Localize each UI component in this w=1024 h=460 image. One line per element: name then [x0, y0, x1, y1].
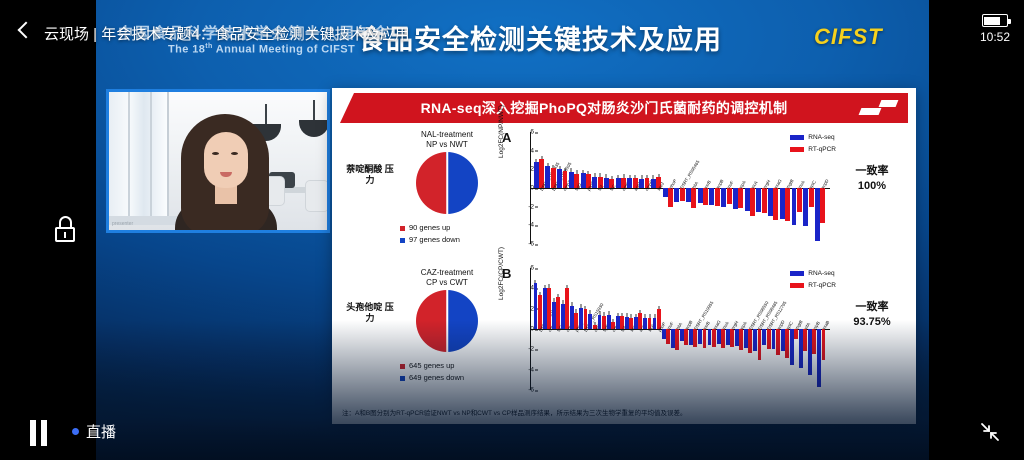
- error-bar: [599, 311, 600, 315]
- pie-chart-nal: [416, 152, 478, 214]
- error-bar: [617, 313, 618, 317]
- presenter-face: [204, 132, 248, 188]
- clock-label: 10:52: [980, 30, 1010, 44]
- error-bar: [645, 314, 646, 318]
- bar-pair: DSRT_RS08485: [753, 268, 762, 390]
- bar-pair: aceA: [627, 132, 639, 244]
- error-bar: [658, 174, 659, 177]
- y-axis-tick: -4: [514, 222, 534, 229]
- error-bar: [647, 175, 648, 178]
- error-bar: [603, 312, 604, 316]
- error-bar: [641, 175, 642, 178]
- bar-pair: sipA: [732, 132, 744, 244]
- y-axis-tick: 2: [514, 305, 534, 312]
- error-bar: [611, 176, 612, 179]
- pie-heading-line2: CP vs CWT: [394, 278, 500, 288]
- concordance-rate-b: 一致率 93.75%: [836, 300, 908, 330]
- error-bar: [618, 175, 619, 178]
- presenter-camera-tile[interactable]: presenter: [106, 89, 330, 233]
- bar-pair: DSRT_RS12795: [762, 268, 771, 390]
- y-axis-label-b: Log2FC(CP/CWT): [498, 220, 505, 300]
- pie-side-label: 萘啶酮酸 压力: [344, 164, 396, 187]
- pie-side-label: 头孢他啶 压力: [344, 302, 396, 325]
- error-bar: [649, 314, 650, 318]
- concordance-rate-a: 一致率 100%: [836, 164, 908, 194]
- flag-decoration-icon: [858, 98, 900, 118]
- pendant-lamp-icon: [299, 120, 329, 137]
- slide-title-bar: RNA-seq深入挖掘PhoPQ对肠炎沙门氏菌耐药的调控机制: [340, 93, 908, 123]
- bar-pair: prgH: [725, 268, 734, 390]
- bar-pair: fliC: [603, 132, 615, 244]
- bar-red: [712, 329, 716, 347]
- back-chevron-icon[interactable]: [18, 22, 35, 39]
- shrink-screen-icon[interactable]: [978, 420, 1002, 444]
- error-bar: [653, 175, 654, 178]
- bar-blue: [709, 188, 714, 205]
- bar-pair: sopD: [771, 268, 780, 390]
- bar-pair: DSRT_RS22435: [533, 132, 545, 244]
- bar-red: [680, 188, 685, 201]
- bar-red: [738, 188, 743, 208]
- bar-pair: sopB: [680, 268, 689, 390]
- y-axis-tick: -2: [514, 203, 534, 210]
- bar-pair: phoQ: [580, 132, 592, 244]
- bar-blue: [545, 166, 550, 188]
- bar-blue: [803, 188, 808, 226]
- player-bottom-bar: 直播: [0, 404, 1024, 460]
- bar-pair: sicA: [744, 132, 756, 244]
- bar-red: [803, 329, 807, 351]
- y-axis-label-a: Log2FC(NP/NWT): [498, 78, 505, 158]
- video-stage[interactable]: 中国食品科学技术学会第十八届年会 The 18th Annual Meeting…: [96, 0, 929, 460]
- bar-blue: [768, 188, 773, 216]
- y-axis-tick: 4: [514, 285, 534, 292]
- plot-area-a: 6420-2-4-6DSRT_RS22435DSRT_RS08505ompXfl…: [530, 132, 826, 244]
- bar-pair: phoP: [662, 132, 674, 244]
- pie-heading: NAL-treatment NP vs NWT: [394, 130, 500, 151]
- error-bar: [585, 306, 586, 310]
- error-bar: [553, 298, 554, 302]
- bar-red: [691, 188, 696, 208]
- error-bar: [562, 300, 563, 304]
- bar-blue: [756, 188, 761, 212]
- error-bar: [622, 313, 623, 317]
- presentation-slide: RNA-seq深入挖掘PhoPQ对肠炎沙门氏菌耐药的调控机制 萘啶酮酸 压力 N…: [332, 88, 916, 424]
- error-bar: [583, 170, 584, 173]
- live-indicator[interactable]: 直播: [72, 421, 116, 442]
- conference-name-en: The 18th Annual Meeting of CIFST: [168, 43, 355, 56]
- error-bar: [535, 280, 536, 284]
- bar-red: [750, 188, 755, 216]
- error-bar: [564, 168, 565, 171]
- bar-pair: fliC: [551, 268, 560, 390]
- bar-pair: phoQ: [570, 268, 579, 390]
- error-bar: [553, 165, 554, 168]
- error-bar: [612, 319, 613, 323]
- concordance-label-a: 一致率: [836, 164, 908, 179]
- bar-pair: aceA: [634, 268, 643, 390]
- bar-pair: DSRT_RS08505: [545, 132, 557, 244]
- error-bar: [627, 313, 628, 317]
- bar-blue: [569, 172, 574, 188]
- bar-red: [666, 329, 670, 344]
- y-axis-tick: 2: [514, 166, 534, 173]
- status-area: 10:52: [980, 14, 1010, 44]
- bar-blue: [721, 188, 726, 207]
- bar-red: [785, 188, 790, 221]
- bar-pair: hilA: [685, 132, 697, 244]
- legend-item-rtqpcr: RT-qPCR: [808, 144, 836, 156]
- bar-blue: [604, 178, 609, 188]
- bar-red: [820, 188, 825, 223]
- bar-blue: [663, 188, 668, 197]
- bar-blue: [780, 188, 785, 219]
- bar-pair: sseJ: [650, 132, 662, 244]
- bar-pair: ompF: [606, 268, 615, 390]
- pie-legend-up: 90 genes up: [409, 222, 450, 234]
- error-bar: [539, 292, 540, 296]
- bar-pair: DSRT_RS05465: [674, 132, 686, 244]
- bar-pair: flgD: [568, 132, 580, 244]
- bar-red: [812, 329, 816, 354]
- bar-pair: spiC: [780, 268, 789, 390]
- bar-red: [762, 188, 767, 213]
- chair-shape: [305, 180, 329, 212]
- bar-red: [684, 329, 688, 345]
- bar-red: [809, 188, 814, 207]
- error-bar: [576, 309, 577, 313]
- error-bar: [608, 311, 609, 315]
- bar-red: [693, 329, 697, 347]
- presenter-eye: [231, 152, 238, 155]
- y-axis-tick: -2: [514, 346, 534, 353]
- nav-title: 云现场 | 年会技术专题4：食品安全检测关键技术及应用: [44, 23, 410, 44]
- legend-a: RNA-seq RT-qPCR: [790, 132, 836, 155]
- error-bar: [544, 285, 545, 289]
- presenter-eye: [212, 152, 219, 155]
- bar-blue: [815, 188, 820, 241]
- bar-pair: DSRT_RS10955: [689, 268, 698, 390]
- banner-topic-title: 食品安全检测关键技术及应用: [358, 18, 722, 57]
- bar-red: [822, 329, 826, 360]
- bar-pair: ompX: [542, 268, 551, 390]
- bar-pair: invF: [721, 132, 733, 244]
- bar-red: [703, 188, 708, 205]
- bar-pair: ompF: [638, 132, 650, 244]
- lock-icon[interactable]: [52, 215, 80, 245]
- bar-red: [776, 329, 780, 355]
- camera-background: presenter: [109, 92, 327, 230]
- pie-chart-caz: [416, 290, 478, 352]
- bar-pair: ompX: [556, 132, 568, 244]
- bar-pair: prgH: [756, 132, 768, 244]
- bar-red: [727, 188, 732, 204]
- bar-red: [773, 188, 778, 220]
- bar-blue: [639, 179, 644, 188]
- bar-blue: [698, 188, 703, 203]
- pause-icon[interactable]: [28, 420, 50, 446]
- bar-pair: phoP: [652, 268, 661, 390]
- bar-blue: [686, 188, 691, 202]
- camera-name-label: presenter: [112, 221, 133, 227]
- error-bar: [594, 173, 595, 176]
- bar-red: [739, 329, 743, 350]
- bar-red: [767, 329, 771, 349]
- bar-blue: [651, 179, 656, 188]
- pie-heading-line1: NAL-treatment: [394, 130, 500, 140]
- error-bar: [547, 163, 548, 166]
- bar-blue: [792, 188, 797, 225]
- pie-chart-block-nal: 萘啶酮酸 压力 NAL-treatment NP vs NWT 90 genes…: [342, 130, 502, 268]
- concordance-label-b: 一致率: [836, 300, 908, 315]
- bar-red: [785, 329, 789, 358]
- y-axis-tick: 6: [514, 129, 534, 136]
- error-bar: [588, 171, 589, 174]
- error-bar: [636, 314, 637, 318]
- bar-blue: [674, 188, 679, 202]
- y-axis-tick: 6: [514, 265, 534, 272]
- bar-pair: sicA: [643, 268, 652, 390]
- bar-red: [730, 329, 734, 347]
- pie-heading: CAZ-treatment CP vs CWT: [394, 268, 500, 289]
- bar-chart-panels: A Log2FC(NP/NWT) 6420-2-4-6DSRT_RS22435D…: [500, 128, 910, 390]
- pie-chart-column: 萘啶酮酸 压力 NAL-treatment NP vs NWT 90 genes…: [342, 130, 502, 406]
- error-bar: [629, 175, 630, 178]
- bar-pair: DSRT_RS11045: [533, 268, 542, 390]
- bar-pair: ssaG: [767, 132, 779, 244]
- legend-item-rnaseq: RNA-seq: [808, 132, 834, 144]
- bar-red: [797, 188, 802, 212]
- error-bar: [590, 310, 591, 314]
- error-bar: [581, 304, 582, 308]
- error-bar: [536, 159, 537, 162]
- bar-panel-b: B Log2FC(CP/CWT) 6420-2-4-6DSRT_RS11045o…: [500, 264, 910, 404]
- pie-heading-line1: CAZ-treatment: [394, 268, 500, 278]
- error-bar: [658, 306, 659, 310]
- bar-panel-a: A Log2FC(NP/NWT) 6420-2-4-6DSRT_RS22435D…: [500, 128, 910, 258]
- pie-legend-nal: 90 genes up 97 genes down: [400, 222, 460, 246]
- pie-heading-line2: NP vs NWT: [394, 140, 500, 150]
- bar-pair: mgtB: [779, 132, 791, 244]
- bar-red: [748, 329, 752, 353]
- error-bar: [640, 310, 641, 314]
- pie-legend-down: 97 genes down: [409, 234, 460, 246]
- battery-icon: [982, 14, 1008, 27]
- bar-blue: [627, 178, 632, 188]
- bar-pair: sopB: [709, 132, 721, 244]
- pie-chart-block-caz: 头孢他啶 压力 CAZ-treatment CP vs CWT 645 gene…: [342, 268, 502, 406]
- error-bar: [635, 175, 636, 178]
- bar-blue: [581, 173, 586, 188]
- bar-pair: ssrB: [698, 268, 707, 390]
- bar-blue: [733, 188, 738, 209]
- bar-red: [721, 329, 725, 348]
- bar-pair: invF: [661, 268, 670, 390]
- bar-blue: [745, 188, 750, 211]
- bar-pair: invA: [716, 268, 725, 390]
- error-bar: [567, 285, 568, 289]
- error-bar: [576, 170, 577, 173]
- bar-pair: ssrB: [697, 132, 709, 244]
- bar-blue: [557, 169, 562, 188]
- error-bar: [559, 166, 560, 169]
- error-bar: [557, 294, 558, 298]
- bar-pair: flgD: [597, 268, 606, 390]
- y-axis-tick: -6: [514, 387, 534, 394]
- bar-pair: ssaG: [707, 268, 716, 390]
- bar-group: DSRT_RS22435DSRT_RS08505ompXflgDphoQfliZ…: [533, 132, 826, 244]
- error-bar: [606, 174, 607, 177]
- y-axis-tick: -4: [514, 366, 534, 373]
- bar-pair: DSRT_RS08550: [744, 268, 753, 390]
- error-bar: [571, 168, 572, 171]
- legend-b: RNA-seq RT-qPCR: [790, 268, 836, 291]
- bar-pair: ompW: [615, 132, 627, 244]
- concordance-value-a: 100%: [836, 179, 908, 194]
- concordance-value-b: 93.75%: [836, 315, 908, 330]
- pie-legend-up: 645 genes up: [409, 360, 454, 372]
- legend-item-rnaseq: RNA-seq: [808, 268, 834, 280]
- error-bar: [572, 302, 573, 306]
- error-bar: [631, 314, 632, 318]
- bar-pair: sseJ: [625, 268, 634, 390]
- bar-red: [703, 329, 707, 348]
- y-axis-tick: 4: [514, 147, 534, 154]
- bar-pair: csgD: [588, 268, 597, 390]
- slide-title: RNA-seq深入挖掘PhoPQ对肠炎沙门氏菌耐药的调控机制: [340, 98, 858, 118]
- bar-pair: fliZ: [592, 132, 604, 244]
- bar-blue: [592, 177, 597, 188]
- pie-legend-caz: 645 genes up 649 genes down: [400, 360, 464, 384]
- bar-pair: DSRT_RS15930: [579, 268, 588, 390]
- bar-pair: hilA: [670, 268, 679, 390]
- bar-red: [758, 329, 762, 360]
- live-stream-player: 中国食品科学技术学会第十八届年会 The 18th Annual Meeting…: [0, 0, 1024, 460]
- window-shape: [109, 92, 169, 217]
- bar-group: DSRT_RS11045ompXfliCompWphoQDSRT_RS15930…: [533, 268, 826, 390]
- bar-blue: [534, 162, 539, 188]
- bar-blue: [616, 178, 621, 188]
- live-dot-icon: [72, 428, 79, 435]
- error-bar: [654, 314, 655, 318]
- pie-legend-down: 649 genes down: [409, 372, 464, 384]
- cifst-logo: CIFST: [814, 24, 883, 50]
- legend-item-rtqpcr: RT-qPCR: [808, 280, 836, 292]
- bar-red: [675, 329, 679, 350]
- error-bar: [541, 156, 542, 159]
- plot-area-b: 6420-2-4-6DSRT_RS11045ompXfliCompWphoQDS…: [530, 268, 826, 390]
- error-bar: [623, 174, 624, 177]
- bar-pair: ompW: [560, 268, 569, 390]
- error-bar: [548, 284, 549, 288]
- bar-red: [668, 188, 673, 207]
- bar-pair: sipA: [734, 268, 743, 390]
- y-axis-tick: -6: [514, 241, 534, 248]
- error-bar: [600, 173, 601, 176]
- bar-red: [715, 188, 720, 206]
- bar-pair: fliZ: [615, 268, 624, 390]
- live-label: 直播: [86, 421, 116, 442]
